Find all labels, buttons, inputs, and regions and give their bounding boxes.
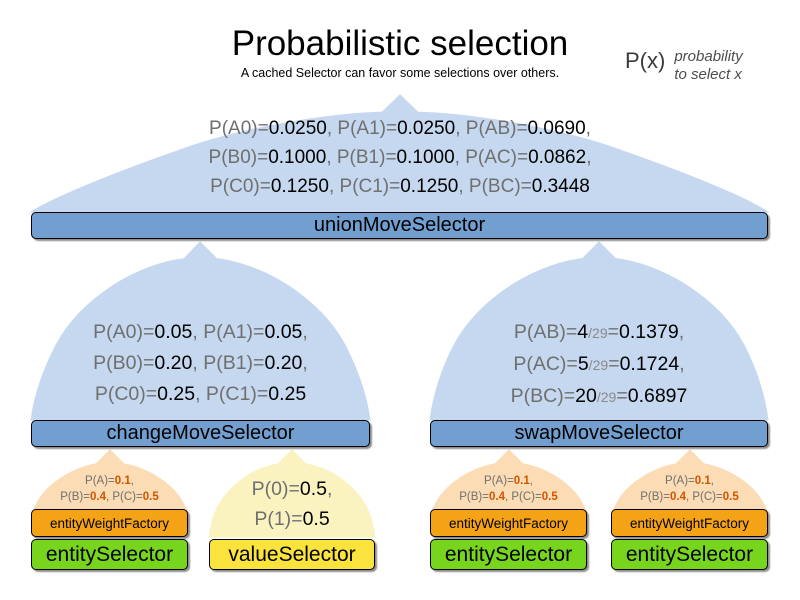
probability-line: P(1)=0.5: [209, 504, 375, 534]
node-value-selector[interactable]: valueSelector: [209, 539, 375, 570]
probability-fraction-numerator: 4: [577, 321, 588, 343]
node-entity-selector-2-label: entitySelector: [445, 543, 572, 567]
probability-separator: ,: [326, 147, 337, 168]
node-entity-weight-factory-3[interactable]: entityWeightFactory: [611, 509, 768, 537]
union-probabilities: P(A0)=0.0250, P(A1)=0.0250, P(AB)=0.0690…: [0, 114, 800, 201]
probability-fraction-numerator: 20: [575, 385, 597, 407]
entity-weight-probabilities-3: P(A)=0.1,P(B)=0.4, P(C)=0.5: [611, 473, 768, 505]
probability-separator: ,: [192, 321, 203, 343]
probability-key: P(B)=: [60, 491, 90, 503]
probability-key: P(A)=: [484, 475, 514, 487]
probability-fraction-denominator: /29: [588, 325, 608, 341]
probability-line: P(B0)=0.20, P(B1)=0.20,: [31, 348, 370, 379]
probability-separator: ,: [195, 383, 206, 405]
probability-value: 0.5: [542, 491, 558, 503]
probability-key: P(B)=: [459, 491, 489, 503]
probability-line: P(A)=0.1,: [31, 473, 188, 489]
probability-line: P(AB)=4/29=0.1379,: [430, 317, 768, 349]
node-entity-selector-1[interactable]: entitySelector: [31, 539, 188, 570]
probability-line: P(C0)=0.25, P(C1)=0.25: [31, 379, 370, 410]
probability-value: 0.0250: [269, 118, 327, 139]
node-entity-selector-3[interactable]: entitySelector: [611, 539, 768, 570]
probability-key: P(C1)=: [206, 383, 268, 405]
probability-key: P(C1)=: [340, 176, 401, 197]
probability-key: P(AB)=: [466, 118, 528, 139]
node-entity-weight-factory-2[interactable]: entityWeightFactory: [430, 509, 587, 537]
probability-value: 0.1250: [271, 176, 329, 197]
probability-separator: ,: [586, 118, 591, 139]
node-change-move-selector[interactable]: changeMoveSelector: [31, 420, 370, 447]
probability-value: 0.4: [90, 491, 106, 503]
probability-key: P(C0)=: [95, 383, 157, 405]
probability-line: P(A0)=0.05, P(A1)=0.05,: [31, 317, 370, 348]
legend-key: P(x): [625, 48, 665, 74]
probability-value: 0.5: [143, 491, 159, 503]
probability-separator: ,: [679, 321, 684, 343]
change-probabilities: P(A0)=0.05, P(A1)=0.05,P(B0)=0.20, P(B1)…: [31, 317, 370, 410]
probability-separator: ,: [679, 353, 684, 375]
probability-separator: ,: [329, 176, 340, 197]
probability-separator: ,: [302, 321, 307, 343]
probability-value: 0.0250: [397, 118, 455, 139]
probability-key: P(C)=: [511, 491, 541, 503]
probability-key: P(BC)=: [469, 176, 532, 197]
probability-value: 0.5: [300, 478, 327, 500]
probability-value: 0.1: [115, 475, 131, 487]
node-entity-weight-factory-3-label: entityWeightFactory: [630, 516, 749, 531]
probability-line: P(AC)=5/29=0.1724,: [430, 349, 768, 381]
probability-equals: =: [608, 321, 619, 343]
probability-key: P(AB)=: [514, 321, 577, 343]
node-change-move-selector-label: changeMoveSelector: [107, 422, 295, 445]
probability-separator: ,: [327, 478, 332, 500]
probability-line: P(C0)=0.1250, P(C1)=0.1250, P(BC)=0.3448: [0, 172, 800, 201]
probability-value: 0.3448: [532, 176, 590, 197]
probability-value: 0.20: [154, 352, 192, 374]
legend-description-line2: to select x: [674, 66, 742, 84]
probability-key: P(AC)=: [465, 147, 528, 168]
node-entity-selector-2[interactable]: entitySelector: [430, 539, 587, 570]
probability-separator: ,: [455, 118, 466, 139]
node-swap-move-selector-label: swapMoveSelector: [515, 422, 684, 445]
probability-line: P(B)=0.4, P(C)=0.5: [611, 489, 768, 505]
probability-fraction-denominator: /29: [589, 357, 609, 373]
probability-separator: ,: [131, 475, 134, 487]
probability-line: P(A)=0.1,: [611, 473, 768, 489]
probability-line: P(BC)=20/29=0.6897: [430, 381, 768, 413]
probability-key: P(A1)=: [203, 321, 264, 343]
node-value-selector-label: valueSelector: [228, 543, 355, 567]
probability-value: 0.25: [268, 383, 306, 405]
probability-value: 0.0862: [528, 147, 586, 168]
node-swap-move-selector[interactable]: swapMoveSelector: [430, 420, 768, 447]
probability-separator: ,: [458, 176, 469, 197]
probability-key: P(C)=: [112, 491, 142, 503]
probability-equals: =: [608, 353, 619, 375]
diagram-canvas: Probabilistic selection A cached Selecto…: [0, 0, 800, 600]
probability-value: 0.6897: [628, 385, 688, 407]
probability-value: 0.0690: [528, 118, 586, 139]
legend: P(x) probability to select x: [625, 48, 743, 84]
probability-value: 0.1000: [268, 147, 326, 168]
probability-value: 0.1250: [400, 176, 458, 197]
probability-key: P(B0)=: [93, 352, 154, 374]
probability-line: P(B0)=0.1000, P(B1)=0.1000, P(AC)=0.0862…: [0, 143, 800, 172]
probability-separator: ,: [530, 475, 533, 487]
value-selector-probabilities: P(0)=0.5,P(1)=0.5: [209, 474, 375, 534]
probability-key: P(A)=: [85, 475, 115, 487]
probability-value: 0.4: [489, 491, 505, 503]
probability-separator: ,: [586, 147, 591, 168]
probability-separator: ,: [455, 147, 466, 168]
node-union-move-selector-label: unionMoveSelector: [314, 214, 485, 237]
probability-line: P(A0)=0.0250, P(A1)=0.0250, P(AB)=0.0690…: [0, 114, 800, 143]
node-entity-weight-factory-1[interactable]: entityWeightFactory: [31, 509, 188, 537]
probability-value: 0.5: [303, 508, 330, 530]
probability-value: 0.20: [264, 352, 302, 374]
node-entity-weight-factory-1-label: entityWeightFactory: [50, 516, 169, 531]
probability-line: P(0)=0.5,: [209, 474, 375, 504]
probability-key: P(A0)=: [209, 118, 269, 139]
probability-fraction-numerator: 5: [578, 353, 589, 375]
probability-line: P(A)=0.1,: [430, 473, 587, 489]
probability-value: 0.1000: [397, 147, 455, 168]
probability-key: P(B0)=: [209, 147, 269, 168]
probability-value: 0.1724: [620, 353, 680, 375]
node-entity-selector-1-label: entitySelector: [46, 543, 173, 567]
probability-key: P(B1)=: [203, 352, 264, 374]
node-entity-selector-3-label: entitySelector: [626, 543, 753, 567]
probability-line: P(B)=0.4, P(C)=0.5: [430, 489, 587, 505]
probability-separator: ,: [192, 352, 203, 374]
probability-key: P(AC)=: [513, 353, 577, 375]
probability-key: P(0)=: [252, 478, 300, 500]
probability-key: P(B)=: [640, 491, 670, 503]
legend-description-line1: probability: [674, 48, 742, 66]
probability-value: 0.1: [695, 475, 711, 487]
probability-key: P(A1)=: [337, 118, 397, 139]
probability-key: P(BC)=: [511, 385, 575, 407]
probability-line: P(B)=0.4, P(C)=0.5: [31, 489, 188, 505]
probability-value: 0.1379: [619, 321, 679, 343]
probability-separator: ,: [711, 475, 714, 487]
probability-key: P(1)=: [254, 508, 302, 530]
probability-key: P(A)=: [665, 475, 695, 487]
probability-separator: ,: [302, 352, 307, 374]
probability-key: P(A0)=: [93, 321, 154, 343]
probability-value: 0.25: [157, 383, 195, 405]
probability-value: 0.5: [723, 491, 739, 503]
probability-value: 0.05: [154, 321, 192, 343]
probability-value: 0.4: [670, 491, 686, 503]
probability-value: 0.1: [514, 475, 530, 487]
probability-key: P(C)=: [692, 491, 722, 503]
probability-separator: ,: [327, 118, 338, 139]
entity-weight-probabilities-2: P(A)=0.1,P(B)=0.4, P(C)=0.5: [430, 473, 587, 505]
node-entity-weight-factory-2-label: entityWeightFactory: [449, 516, 568, 531]
entity-weight-probabilities-1: P(A)=0.1,P(B)=0.4, P(C)=0.5: [31, 473, 188, 505]
probability-key: P(B1)=: [337, 147, 397, 168]
swap-probabilities: P(AB)=4/29=0.1379,P(AC)=5/29=0.1724,P(BC…: [430, 317, 768, 413]
node-union-move-selector[interactable]: unionMoveSelector: [31, 212, 768, 239]
probability-fraction-denominator: /29: [597, 389, 617, 405]
probability-equals: =: [616, 385, 627, 407]
probability-key: P(C0)=: [210, 176, 271, 197]
probability-value: 0.05: [264, 321, 302, 343]
